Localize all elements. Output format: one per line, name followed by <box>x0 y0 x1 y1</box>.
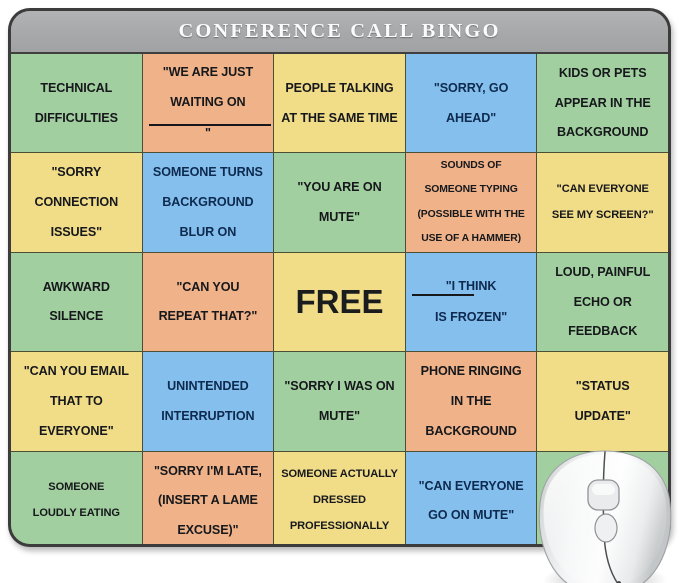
cell-line: KIDS OR PETS <box>541 66 664 81</box>
fill-in-blank-line <box>412 294 474 296</box>
bingo-cell-r2c4: SOUNDS OF SOMEONE TYPING (POSSIBLE WITH … <box>406 153 537 251</box>
cell-line: CONNECTION <box>15 195 138 210</box>
fill-in-blank-line <box>149 124 272 126</box>
cell-line: (INSERT A LAME <box>147 493 270 508</box>
cell-line: ISSUES" <box>15 225 138 240</box>
cell-line: SOUNDS OF <box>410 160 533 172</box>
cell-line: UNINTENDED <box>147 379 270 394</box>
cell-line: THAT TO <box>15 394 138 409</box>
bingo-cell-r5c4: "CAN EVERYONE GO ON MUTE" <box>406 452 537 544</box>
bingo-cell-r2c5: "CAN EVERYONE SEE MY SCREEN?" <box>537 153 668 251</box>
bingo-cell-r4c4: PHONE RINGING IN THE BACKGROUND <box>406 352 537 450</box>
bingo-cell-r4c1: "CAN YOU EMAIL THAT TO EVERYONE" <box>11 352 142 450</box>
bingo-cell-r1c1: TECHNICAL DIFFICULTIES <box>11 54 142 152</box>
page-title: CONFERENCE CALL BINGO <box>178 20 500 43</box>
cell-line: PROFESSIONALLY <box>278 520 401 533</box>
bingo-cell-r1c3: PEOPLE TALKING AT THE SAME TIME <box>274 54 405 152</box>
cell-line: DRESSED <box>278 494 401 507</box>
cell-line: "WE ARE JUST <box>147 65 270 80</box>
mousepad: CONFERENCE CALL BINGO TECHNICAL DIFFICUL… <box>8 8 671 547</box>
cell-line: PEOPLE TALKING <box>278 81 401 96</box>
cell-line: SILENCE <box>15 309 138 324</box>
bingo-cell-r5c2: "SORRY I'M LATE, (INSERT A LAME EXCUSE)" <box>143 452 274 544</box>
bingo-cell-r2c3: "YOU ARE ON MUTE" <box>274 153 405 251</box>
bingo-cell-r4c2: UNINTENDED INTERRUPTION <box>143 352 274 450</box>
bingo-cell-r4c3: "SORRY I WAS ON MUTE" <box>274 352 405 450</box>
cell-line: AT THE SAME TIME <box>278 111 401 126</box>
cell-line: "SORRY <box>15 165 138 180</box>
cell-line: LOUDLY EATING <box>15 507 138 520</box>
bingo-cell-r3c2: "CAN YOU REPEAT THAT?" <box>143 253 274 351</box>
bingo-cell-r5c5 <box>537 452 668 544</box>
cell-line: SOMEONE ACTUALLY <box>278 468 401 481</box>
cell-line: DIFFICULTIES <box>15 111 138 126</box>
cell-line: ECHO OR <box>541 295 664 310</box>
mouse-shadow <box>543 563 667 583</box>
bingo-cell-r2c1: "SORRY CONNECTION ISSUES" <box>11 153 142 251</box>
cell-line: "SORRY I WAS ON <box>278 379 401 394</box>
cell-line: APPEAR IN THE <box>541 96 664 111</box>
cell-line: "CAN EVERYONE <box>541 183 664 196</box>
cell-line: IS FROZEN" <box>410 310 533 325</box>
cell-line: "STATUS <box>541 379 664 394</box>
bingo-header-band: CONFERENCE CALL BINGO <box>11 11 668 52</box>
free-label: FREE <box>278 283 401 322</box>
cell-line: SOMEONE <box>15 481 138 494</box>
cell-line: BACKGROUND <box>541 125 664 140</box>
bingo-cell-r3c4: "I THINK IS FROZEN" <box>406 253 537 351</box>
mousepad-surface: CONFERENCE CALL BINGO TECHNICAL DIFFICUL… <box>11 11 668 544</box>
cell-line: BACKGROUND <box>410 424 533 439</box>
cell-line: "SORRY I'M LATE, <box>147 464 270 479</box>
bingo-cell-free-space: FREE <box>274 253 405 351</box>
cell-line: PHONE RINGING <box>410 364 533 379</box>
cell-line: SOMEONE TYPING <box>410 184 533 196</box>
bingo-cell-r4c5: "STATUS UPDATE" <box>537 352 668 450</box>
bingo-cell-r3c5: LOUD, PAINFUL ECHO OR FEEDBACK <box>537 253 668 351</box>
cell-line: MUTE" <box>278 409 401 424</box>
cell-line: "CAN YOU <box>147 280 270 295</box>
cell-line: SOMEONE TURNS <box>147 165 270 180</box>
bingo-grid: TECHNICAL DIFFICULTIES "WE ARE JUST WAIT… <box>11 52 668 544</box>
bingo-cell-r5c1: SOMEONE LOUDLY EATING <box>11 452 142 544</box>
cell-line: SEE MY SCREEN?" <box>541 209 664 222</box>
bingo-cell-r1c5: KIDS OR PETS APPEAR IN THE BACKGROUND <box>537 54 668 152</box>
cell-line: GO ON MUTE" <box>410 508 533 523</box>
bingo-cell-r1c4: "SORRY, GO AHEAD" <box>406 54 537 152</box>
cell-line: UPDATE" <box>541 409 664 424</box>
cell-line: BLUR ON <box>147 225 270 240</box>
cell-line: USE OF A HAMMER) <box>410 233 533 245</box>
cell-line: EXCUSE)" <box>147 523 270 538</box>
cell-line: BACKGROUND <box>147 195 270 210</box>
product-photo: CONFERENCE CALL BINGO TECHNICAL DIFFICUL… <box>0 0 679 583</box>
cell-line: IN THE <box>410 394 533 409</box>
cell-line: FEEDBACK <box>541 324 664 339</box>
bingo-cell-r1c2: "WE ARE JUST WAITING ON " <box>143 54 274 152</box>
bingo-cell-r3c1: AWKWARD SILENCE <box>11 253 142 351</box>
cell-line: EVERYONE" <box>15 424 138 439</box>
cell-line: AWKWARD <box>15 280 138 295</box>
cell-line: AHEAD" <box>410 111 533 126</box>
bingo-cell-r2c2: SOMEONE TURNS BACKGROUND BLUR ON <box>143 153 274 251</box>
bingo-cell-r5c3: SOMEONE ACTUALLY DRESSED PROFESSIONALLY <box>274 452 405 544</box>
cell-line: "CAN EVERYONE <box>410 479 533 494</box>
cell-line: "YOU ARE ON <box>278 180 401 195</box>
cell-line: (POSSIBLE WITH THE <box>410 209 533 221</box>
cell-line: WAITING ON <box>147 95 270 110</box>
cell-line: TECHNICAL <box>15 81 138 96</box>
cell-line: MUTE" <box>278 210 401 225</box>
cell-line: "SORRY, GO <box>410 81 533 96</box>
cell-line: REPEAT THAT?" <box>147 309 270 324</box>
cell-line: LOUD, PAINFUL <box>541 265 664 280</box>
cell-line: "CAN YOU EMAIL <box>15 364 138 379</box>
cell-line: INTERRUPTION <box>147 409 270 424</box>
